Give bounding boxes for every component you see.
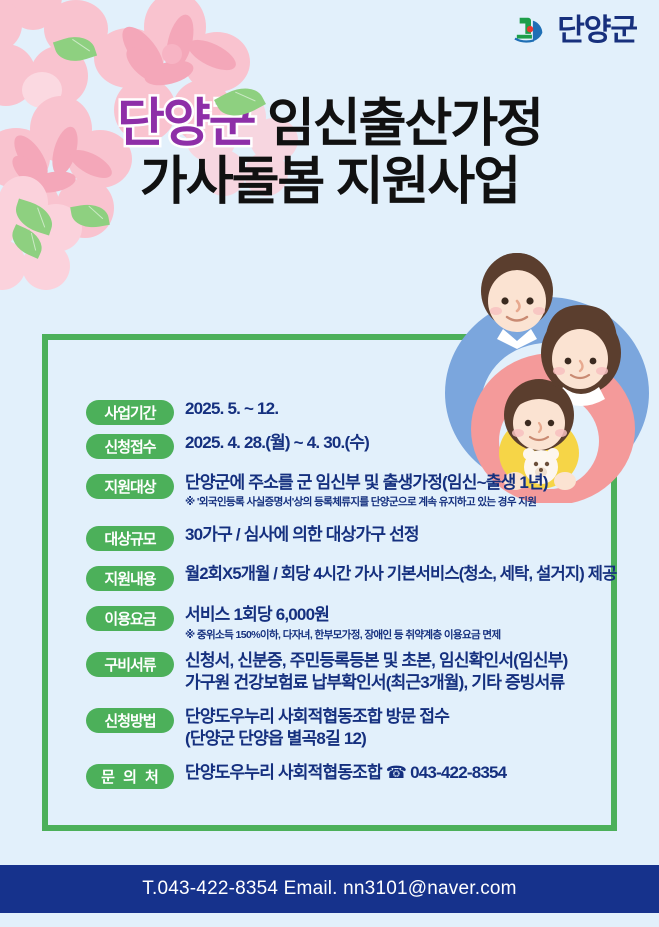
info-list: 사업기간 2025. 5. ~ 12. 신청접수 2025. 4. 28.(월)… (86, 398, 616, 798)
info-label-scale: 대상규모 (86, 526, 174, 551)
danyang-logo: 단양군 (512, 14, 637, 48)
info-row-eligibility: 지원대상 단양군에 주소를 군 임신부 및 출생가정(임신~출생 1년) ※ '… (86, 472, 616, 511)
info-value-scale-group: 30가구 / 심사에 의한 대상가구 선정 (185, 524, 616, 545)
footer-contact[interactable]: T.043-422-8354 Email. nn3101@naver.com (142, 878, 516, 900)
info-value-documents-group: 신청서, 신분증, 주민등록등본 및 초본, 임신확인서(임신부) 가구원 건강… (185, 650, 616, 693)
info-row-how-to-apply: 신청방법 단양도우누리 사회적협동조합 방문 접수 (단양군 단양읍 별곡8길 … (86, 706, 616, 749)
info-value-application-period-group: 2025. 4. 28.(월) ~ 4. 30.(수) (185, 432, 616, 453)
info-label-service: 지원내용 (86, 566, 174, 591)
poster-canvas: 단양군 단양군 임신출산가정 가사돌봄 지원사업 (0, 0, 659, 927)
info-value-service-group: 월2회X5개월 / 회당 4시간 가사 기본서비스(청소, 세탁, 설거지) 제… (185, 564, 616, 585)
info-value-contact-group: 단양도우누리 사회적협동조합 ☎ 043-422-8354 (185, 762, 616, 783)
logo-text: 단양군 (557, 16, 637, 46)
info-label-application-period: 신청접수 (86, 434, 174, 459)
info-value-fee: 서비스 1회당 6,000원 (185, 604, 616, 625)
info-value-scale: 30가구 / 심사에 의한 대상가구 선정 (185, 524, 616, 545)
title-line-2: 가사돌봄 지원사업 (0, 154, 659, 210)
info-value-eligibility-group: 단양군에 주소를 군 임신부 및 출생가정(임신~출생 1년) ※ '외국인등록… (185, 472, 616, 511)
info-label-period: 사업기간 (86, 400, 174, 425)
page-title: 단양군 임신출산가정 가사돌봄 지원사업 (0, 96, 659, 210)
info-row-documents: 구비서류 신청서, 신분증, 주민등록등본 및 초본, 임신확인서(임신부) 가… (86, 650, 616, 693)
title-line-1-rest: 임신출산가정 (267, 95, 542, 153)
danyang-emblem-icon (512, 14, 550, 48)
info-value-documents-line-1: 신청서, 신분증, 주민등록등본 및 초본, 임신확인서(임신부) (185, 650, 616, 671)
info-label-contact: 문 의 처 (86, 764, 174, 789)
info-value-how-to-apply-line-1: 단양도우누리 사회적협동조합 방문 접수 (185, 706, 616, 727)
info-row-fee: 이용요금 서비스 1회당 6,000원 ※ 중위소득 150%이하, 다자녀, … (86, 604, 616, 643)
info-label-fee: 이용요금 (86, 606, 174, 631)
info-row-service: 지원내용 월2회X5개월 / 회당 4시간 가사 기본서비스(청소, 세탁, 설… (86, 564, 616, 591)
info-value-eligibility: 단양군에 주소를 군 임신부 및 출생가정(임신~출생 1년) (185, 472, 616, 493)
info-row-application-period: 신청접수 2025. 4. 28.(월) ~ 4. 30.(수) (86, 432, 616, 459)
info-row-contact: 문 의 처 단양도우누리 사회적협동조합 ☎ 043-422-8354 (86, 762, 616, 789)
info-value-service: 월2회X5개월 / 회당 4시간 가사 기본서비스(청소, 세탁, 설거지) 제… (185, 564, 616, 585)
info-value-documents-line-2: 가구원 건강보험료 납부확인서(최근3개월), 기타 증빙서류 (185, 672, 616, 693)
info-label-eligibility: 지원대상 (86, 474, 174, 499)
info-note-eligibility: ※ '외국인등록 사실증명서'상의 등록체류지를 단양군으로 계속 유지하고 있… (185, 495, 616, 511)
info-label-how-to-apply: 신청방법 (86, 708, 174, 733)
info-value-fee-group: 서비스 1회당 6,000원 ※ 중위소득 150%이하, 다자녀, 한부모가정… (185, 604, 616, 643)
info-row-period: 사업기간 2025. 5. ~ 12. (86, 398, 616, 425)
info-value-period: 2025. 5. ~ 12. (185, 398, 616, 419)
title-line-1: 단양군 임신출산가정 (0, 96, 659, 152)
info-value-how-to-apply-group: 단양도우누리 사회적협동조합 방문 접수 (단양군 단양읍 별곡8길 12) (185, 706, 616, 749)
info-note-fee: ※ 중위소득 150%이하, 다자녀, 한부모가정, 장애인 등 취약계층 이용… (185, 628, 616, 644)
info-label-documents: 구비서류 (86, 652, 174, 677)
info-value-application-period: 2025. 4. 28.(월) ~ 4. 30.(수) (185, 432, 616, 453)
footer-bar: T.043-422-8354 Email. nn3101@naver.com (0, 865, 659, 913)
info-value-period-group: 2025. 5. ~ 12. (185, 398, 616, 419)
info-value-contact[interactable]: 단양도우누리 사회적협동조합 ☎ 043-422-8354 (185, 762, 616, 783)
info-row-scale: 대상규모 30가구 / 심사에 의한 대상가구 선정 (86, 524, 616, 551)
info-value-how-to-apply-line-2: (단양군 단양읍 별곡8길 12) (185, 728, 616, 749)
leaf-icon (53, 31, 97, 67)
